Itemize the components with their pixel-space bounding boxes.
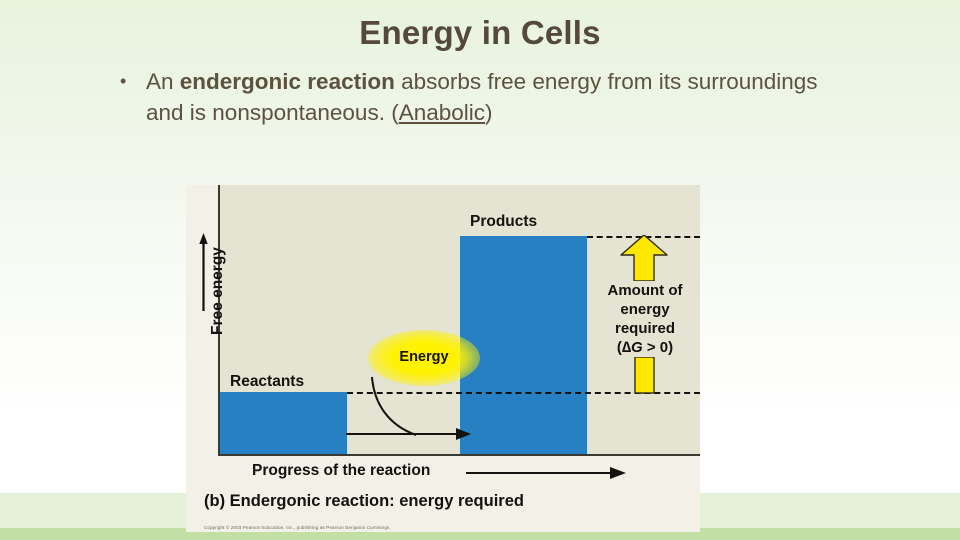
- bullet-text: An endergonic reaction absorbs free ener…: [146, 66, 860, 128]
- label-products: Products: [470, 213, 537, 231]
- y-axis-label: Free energy: [209, 196, 227, 386]
- reaction-direction-arrow-icon: [346, 425, 471, 443]
- amount-line-2: energy: [590, 300, 700, 319]
- copyright-notice: Copyright © 2003 Pearson Education, Inc.…: [204, 525, 391, 530]
- bar-products: [460, 236, 587, 454]
- bullet-lead: An: [146, 69, 180, 94]
- x-axis-arrow-icon: [466, 466, 626, 480]
- x-axis-label: Progress of the reaction: [252, 462, 430, 480]
- bullet-marker: •: [120, 72, 126, 90]
- page-title: Energy in Cells: [0, 14, 960, 52]
- amount-of-energy-annotation: Amount of energy required (∆G > 0): [590, 281, 700, 357]
- x-axis-line: [218, 454, 700, 456]
- amount-line-3: required: [590, 319, 700, 338]
- bullet-paragraph: • An endergonic reaction absorbs free en…: [120, 66, 860, 128]
- bullet-bold-term: endergonic reaction: [180, 69, 395, 94]
- label-reactants: Reactants: [230, 373, 304, 391]
- bar-reactants: [220, 392, 347, 454]
- y-axis-arrow-icon: [199, 233, 208, 311]
- delta-inequality: > 0): [643, 339, 673, 356]
- delta-g-symbol: ∆G: [622, 339, 643, 356]
- amount-line-4: (∆G > 0): [590, 338, 700, 357]
- bullet-underlined-term: Anabolic: [399, 100, 485, 125]
- figure-panel: Free energy Reactants Products Energy Am…: [186, 185, 700, 532]
- label-energy: Energy: [368, 349, 480, 365]
- energy-required-arrow-icon: [620, 235, 668, 281]
- figure-caption: (b) Endergonic reaction: energy required: [204, 492, 524, 511]
- energy-required-arrow-tail-icon: [634, 357, 655, 394]
- bullet-tail: ): [485, 100, 493, 125]
- amount-line-1: Amount of: [590, 281, 700, 300]
